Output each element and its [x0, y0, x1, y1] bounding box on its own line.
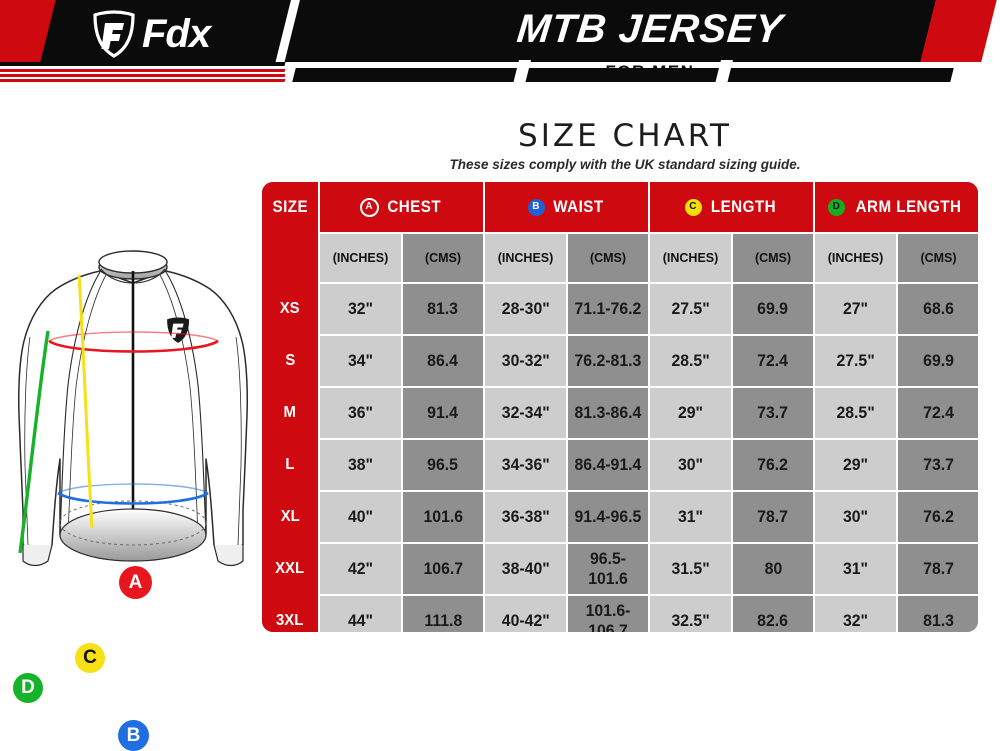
units-waist-inches: (INCHES)	[484, 233, 567, 283]
units-chest-cms: (CMS)	[402, 233, 484, 283]
cell-length-cm: 78.7	[732, 491, 814, 543]
header-group-arm-length: D ARM LENGTH	[814, 182, 978, 233]
cell-waist-in: 34-36"	[484, 439, 567, 491]
header-length-label: LENGTH	[710, 198, 775, 217]
cell-arm-in: 28.5"	[814, 387, 897, 439]
cell-waist-cm: 76.2-81.3	[567, 335, 649, 387]
cell-chest-in: 40"	[319, 491, 402, 543]
cell-waist-in: 38-40"	[484, 543, 567, 595]
cell-size-text: XS	[280, 300, 300, 318]
cell-length-in: 30"	[649, 439, 732, 491]
cell-arm-in: 32"	[814, 595, 897, 632]
table-row: M 36" 91.4 32-34" 81.3-86.4 29" 73.7 28.…	[262, 387, 978, 439]
header-chest-label: CHEST	[387, 198, 441, 217]
units-waist-cms: (CMS)	[567, 233, 649, 283]
cell-chest-cm: 96.5	[402, 439, 484, 491]
cell-length-cm: 80	[732, 543, 814, 595]
header-size-label: SIZE	[272, 198, 308, 217]
cell-waist-in: 30-32"	[484, 335, 567, 387]
banner-stripe-black	[0, 62, 285, 66]
banner-stripe-1	[0, 69, 285, 72]
badge-d-icon: D	[828, 199, 845, 216]
header-arm-length-label: ARM LENGTH	[856, 198, 962, 217]
marker-d: D	[13, 673, 43, 703]
units-size-blank	[262, 233, 319, 283]
cell-arm-in: 27.5"	[814, 335, 897, 387]
cell-waist-cm: 81.3-86.4	[567, 387, 649, 439]
cell-arm-in: 31"	[814, 543, 897, 595]
cell-length-cm: 82.6	[732, 595, 814, 632]
table-row: L 38" 96.5 34-36" 86.4-91.4 30" 76.2 29"…	[262, 439, 978, 491]
jersey-illustration: A B C D	[8, 245, 258, 595]
badge-b-icon: B	[528, 199, 545, 216]
cell-chest-in: 36"	[319, 387, 402, 439]
cell-chest-in: 32"	[319, 283, 402, 335]
table-row: S 34" 86.4 30-32" 76.2-81.3 28.5" 72.4 2…	[262, 335, 978, 387]
marker-a: A	[119, 566, 152, 599]
units-arm-inches: (INCHES)	[814, 233, 897, 283]
brand-name: Fdx	[142, 14, 210, 54]
cell-waist-cm: 71.1-76.2	[567, 283, 649, 335]
table-header-row: SIZE A CHEST B WAIST C	[262, 182, 978, 233]
cell-length-in: 28.5"	[649, 335, 732, 387]
cell-waist-in: 32-34"	[484, 387, 567, 439]
cell-chest-cm: 86.4	[402, 335, 484, 387]
cell-length-in: 27.5"	[649, 283, 732, 335]
units-length-cms: (CMS)	[732, 233, 814, 283]
cell-arm-cm: 78.7	[897, 543, 978, 595]
table-row: XS 32" 81.3 28-30" 71.1-76.2 27.5" 69.9 …	[262, 283, 978, 335]
cell-chest-in: 34"	[319, 335, 402, 387]
cell-chest-in: 44"	[319, 595, 402, 632]
size-chart-table-wrapper: SIZE A CHEST B WAIST C	[262, 182, 978, 632]
page-title: SIZE CHART	[400, 118, 850, 154]
cell-length-in: 31"	[649, 491, 732, 543]
header-group-length: C LENGTH	[649, 182, 814, 233]
cell-size: L	[262, 439, 319, 491]
units-arm-cms: (CMS)	[897, 233, 978, 283]
cell-waist-cm: 96.5-101.6	[567, 543, 649, 595]
table-row: 3XL 44" 111.8 40-42" 101.6-106.7 32.5" 8…	[262, 595, 978, 632]
cell-chest-cm: 106.7	[402, 543, 484, 595]
cell-arm-cm: 72.4	[897, 387, 978, 439]
cell-arm-cm: 68.6	[897, 283, 978, 335]
cell-arm-in: 27"	[814, 283, 897, 335]
badge-a-icon: A	[360, 198, 379, 217]
cell-arm-cm: 81.3	[897, 595, 978, 632]
cell-waist-cm: 101.6-106.7	[567, 595, 649, 632]
cell-length-cm: 76.2	[732, 439, 814, 491]
banner-stripe-3	[0, 79, 285, 82]
cell-size: S	[262, 335, 319, 387]
cell-size: 3XL	[262, 595, 319, 632]
cell-waist-cm: 91.4-96.5	[567, 491, 649, 543]
cell-arm-cm: 76.2	[897, 491, 978, 543]
jersey-drawing	[8, 245, 258, 595]
page-note: These sizes comply with the UK standard …	[380, 157, 870, 172]
marker-b: B	[118, 720, 149, 751]
header-banner: Fdx MTB JERSEY FOR MEN	[0, 0, 1000, 100]
cell-length-in: 32.5"	[649, 595, 732, 632]
header-group-chest: A CHEST	[319, 182, 484, 233]
cell-arm-cm: 69.9	[897, 335, 978, 387]
cell-arm-in: 30"	[814, 491, 897, 543]
cell-chest-cm: 91.4	[402, 387, 484, 439]
banner-subtitle: FOR MEN	[465, 62, 835, 82]
cell-size: XXL	[262, 543, 319, 595]
cell-chest-cm: 111.8	[402, 595, 484, 632]
header-waist-label: WAIST	[553, 198, 603, 217]
cell-chest-cm: 81.3	[402, 283, 484, 335]
cell-waist-in: 28-30"	[484, 283, 567, 335]
cell-size: XS	[262, 283, 319, 335]
cell-waist-in: 36-38"	[484, 491, 567, 543]
cell-chest-in: 38"	[319, 439, 402, 491]
cell-length-in: 29"	[649, 387, 732, 439]
brand-logo: Fdx	[92, 10, 210, 58]
table-row: XL 40" 101.6 36-38" 91.4-96.5 31" 78.7 3…	[262, 491, 978, 543]
cell-length-cm: 73.7	[732, 387, 814, 439]
fdx-shield-icon	[92, 10, 136, 58]
banner-title: MTB JERSEY	[463, 8, 837, 50]
cell-length-cm: 69.9	[732, 283, 814, 335]
cell-size: M	[262, 387, 319, 439]
cell-waist-cm: 86.4-91.4	[567, 439, 649, 491]
cell-chest-cm: 101.6	[402, 491, 484, 543]
cell-size: XL	[262, 491, 319, 543]
cell-waist-in: 40-42"	[484, 595, 567, 632]
banner-stripe-2	[0, 74, 285, 77]
units-chest-inches: (INCHES)	[319, 233, 402, 283]
table-row: XXL 42" 106.7 38-40" 96.5-101.6 31.5" 80…	[262, 543, 978, 595]
badge-c-icon: C	[685, 199, 702, 216]
header-size: SIZE	[262, 182, 319, 233]
table-units-row: (INCHES) (CMS) (INCHES) (CMS) (INCHES) (…	[262, 233, 978, 283]
cell-arm-in: 29"	[814, 439, 897, 491]
cell-length-cm: 72.4	[732, 335, 814, 387]
cell-length-in: 31.5"	[649, 543, 732, 595]
size-chart-table: SIZE A CHEST B WAIST C	[262, 182, 978, 632]
units-length-inches: (INCHES)	[649, 233, 732, 283]
cell-arm-cm: 73.7	[897, 439, 978, 491]
cell-chest-in: 42"	[319, 543, 402, 595]
header-group-waist: B WAIST	[484, 182, 649, 233]
